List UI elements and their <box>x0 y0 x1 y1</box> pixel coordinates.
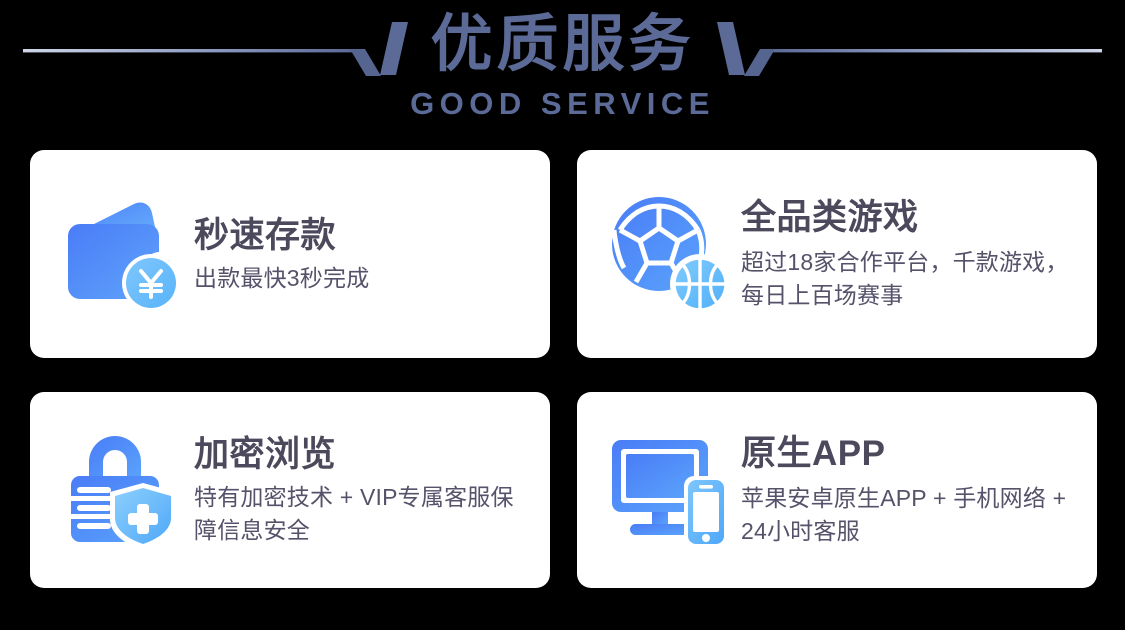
banner-header: 优质服务 GOOD SERVICE <box>0 0 1125 145</box>
card-description: 特有加密技术 + VIP专属客服保障信息安全 <box>194 481 536 547</box>
service-card-encrypted-browsing[interactable]: 加密浏览 特有加密技术 + VIP专属客服保障信息安全 <box>30 392 550 588</box>
service-card-instant-deposit[interactable]: 秒速存款 出款最快3秒完成 <box>30 150 550 358</box>
service-card-native-app[interactable]: 原生APP 苹果安卓原生APP + 手机网络 + 24小时客服 <box>577 392 1097 588</box>
card-text-block: 加密浏览 特有加密技术 + VIP专属客服保障信息安全 <box>188 433 536 547</box>
header-text-block: 优质服务 GOOD SERVICE <box>0 8 1125 122</box>
service-card-grid: 秒速存款 出款最快3秒完成 <box>30 150 1097 590</box>
card-title: 加密浏览 <box>194 433 536 477</box>
card-description: 超过18家合作平台，千款游戏，每日上百场赛事 <box>741 246 1083 312</box>
card-text-block: 秒速存款 出款最快3秒完成 <box>188 214 536 295</box>
card-text-block: 原生APP 苹果安卓原生APP + 手机网络 + 24小时客服 <box>735 432 1083 548</box>
card-title: 全品类游戏 <box>741 196 1083 240</box>
service-card-all-games[interactable]: 全品类游戏 超过18家合作平台，千款游戏，每日上百场赛事 <box>577 150 1097 358</box>
good-service-banner: 优质服务 GOOD SERVICE <box>0 0 1125 630</box>
card-description: 苹果安卓原生APP + 手机网络 + 24小时客服 <box>741 482 1083 548</box>
lock-shield-icon <box>56 424 188 556</box>
page-title: 优质服务 <box>430 8 694 82</box>
card-title: 秒速存款 <box>194 214 536 258</box>
soccer-basketball-icon <box>603 188 735 320</box>
card-text-block: 全品类游戏 超过18家合作平台，千款游戏，每日上百场赛事 <box>735 196 1083 312</box>
card-title: 原生APP <box>741 432 1083 476</box>
monitor-phone-icon <box>603 424 735 556</box>
card-description: 出款最快3秒完成 <box>194 262 536 295</box>
page-subtitle: GOOD SERVICE <box>410 86 715 122</box>
wallet-yen-icon <box>56 188 188 320</box>
